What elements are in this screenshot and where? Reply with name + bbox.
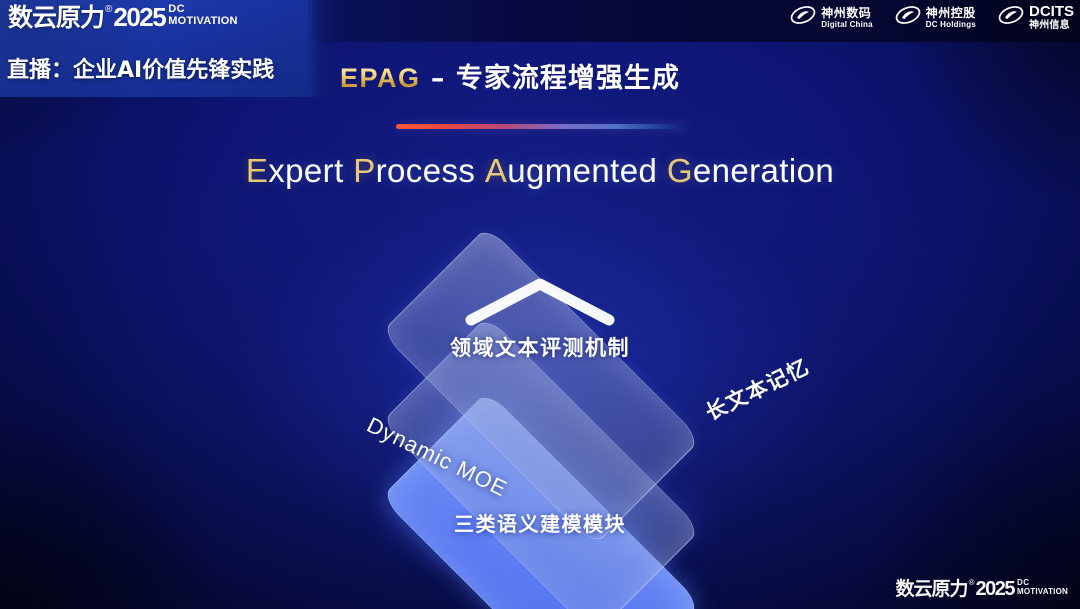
brand-sub-motivation: MOTIVATION (168, 16, 237, 27)
partner-name-cn: 神州控股 (926, 7, 976, 19)
partner-text: 神州控股 DC Holdings (926, 7, 976, 29)
watermark-year: 2025 (975, 578, 1014, 600)
watermark-name-cn: 数云原力 (896, 578, 968, 601)
partner-logo-digital-china: 神州数码 Digital China (790, 4, 873, 31)
subtitle-rest-1: xpert (268, 152, 343, 189)
partner-text: DCITS 神州信息 (1029, 4, 1074, 31)
galaxy-swirl-icon (895, 4, 921, 31)
layer-label-bottom: 三类语义建模模块 (0, 508, 1080, 537)
brand-logo: 数云原力 ® 2025 DC MOTIVATION (8, 3, 238, 33)
partner-name-cn: 神州数码 (821, 7, 873, 19)
subtitle-rest-3: ugmented (507, 152, 657, 189)
footer-watermark-logo: 数云原力 ® 2025 DC MOTIVATION (896, 578, 1068, 601)
subtitle-space-3 (657, 152, 667, 189)
subtitle-cap-1: E (246, 152, 268, 189)
subtitle-cap-4: G (667, 152, 693, 189)
galaxy-swirl-icon (998, 4, 1024, 31)
title-acronym: EPAG (340, 63, 421, 93)
layer-label-long-text-memory: 长文本记忆 (700, 351, 814, 427)
galaxy-swirl-icon (790, 4, 816, 31)
partner-name-cn: 神州信息 (1029, 21, 1074, 31)
registered-mark-icon: ® (105, 3, 112, 17)
subtitle-space-2 (475, 152, 485, 189)
diagram-layer-top[interactable] (390, 235, 692, 537)
presentation-slide: 数云原力 ® 2025 DC MOTIVATION 直播：企业AI价值先锋实践 … (0, 0, 1080, 609)
brand-year: 2025 (113, 3, 165, 32)
title-separator: – (421, 63, 456, 94)
slide-subtitle: Expert Process Augmented Generation (0, 152, 1080, 190)
partner-logo-dc-holdings: 神州控股 DC Holdings (895, 4, 976, 31)
watermark-subtitle: DC MOTIVATION (1017, 579, 1068, 596)
partner-name-en: DCITS (1029, 4, 1074, 19)
title-chinese: 专家流程增强生成 (456, 63, 680, 94)
subtitle-rest-4: eneration (693, 152, 834, 189)
subtitle-cap-2: P (353, 152, 375, 189)
title-divider (396, 124, 686, 129)
partner-text: 神州数码 Digital China (821, 7, 873, 29)
live-title: 直播：企业AI价值先锋实践 (7, 52, 274, 84)
watermark-sub-dc: DC (1017, 579, 1068, 587)
brand-subtitle: DC MOTIVATION (168, 4, 237, 27)
partner-logo-group: 神州数码 Digital China 神州控股 DC Holdings (790, 4, 1074, 31)
brand-name-cn: 数云原力 (8, 3, 104, 33)
watermark-sub-motivation: MOTIVATION (1017, 588, 1068, 596)
partner-name-en: Digital China (821, 21, 873, 29)
layer-label-top: 领域文本评测机制 (0, 332, 1080, 362)
subtitle-rest-2: rocess (376, 152, 476, 189)
registered-mark-icon: ® (969, 578, 975, 588)
subtitle-space-1 (344, 152, 354, 189)
subtitle-cap-3: A (485, 152, 507, 189)
partner-name-en: DC Holdings (926, 21, 976, 29)
partner-logo-dcits: DCITS 神州信息 (998, 4, 1074, 31)
layer-plate (381, 226, 701, 546)
brand-sub-dc: DC (168, 4, 237, 15)
slide-title: EPAG – 专家流程增强生成 (340, 56, 680, 95)
